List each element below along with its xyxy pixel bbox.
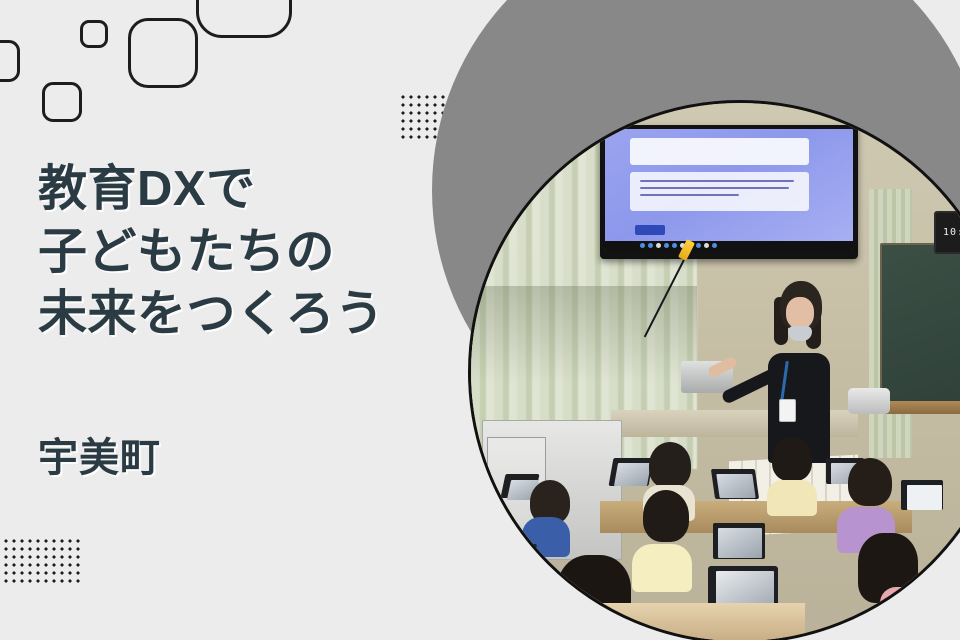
subtitle-municipality: 宇美町 bbox=[38, 425, 161, 483]
student bbox=[649, 442, 691, 488]
chalk-rail bbox=[880, 401, 960, 414]
wall-display-monitor bbox=[600, 125, 858, 260]
student-laptop-screen bbox=[718, 528, 762, 558]
screen-taskbar bbox=[605, 241, 853, 250]
rounded-square-icon-d bbox=[128, 18, 198, 88]
student bbox=[848, 458, 892, 506]
taskbar-icon bbox=[672, 243, 677, 248]
screen-text-line bbox=[640, 187, 789, 189]
rounded-square-icon-e bbox=[196, 0, 292, 38]
screen-card-body bbox=[630, 172, 809, 211]
banner-root: 10:00 bbox=[0, 0, 960, 640]
student-laptop-screen bbox=[614, 463, 651, 486]
screen-submit-button bbox=[635, 225, 665, 236]
student-shirt bbox=[767, 480, 817, 516]
rounded-square-icon-b bbox=[42, 82, 82, 122]
student-shirt-pink bbox=[880, 587, 938, 631]
taskbar-icon bbox=[656, 243, 661, 248]
page-title: 教育DXで 子どもたちの 未来をつくろう bbox=[38, 158, 385, 346]
student-desk bbox=[568, 603, 805, 640]
wall-clock: 10:00 bbox=[934, 211, 960, 254]
rounded-square-icon-a bbox=[0, 40, 20, 82]
rounded-square-icon-c bbox=[80, 20, 108, 48]
teacher-id-card bbox=[779, 399, 796, 422]
taskbar-icon bbox=[640, 243, 645, 248]
dot-grid-bottom bbox=[0, 537, 82, 587]
taskbar-icon bbox=[704, 243, 709, 248]
student bbox=[772, 437, 812, 481]
student-shirt bbox=[632, 544, 692, 592]
student-laptop-screen bbox=[907, 485, 942, 510]
student-laptop-screen bbox=[717, 474, 756, 498]
taskbar-icon bbox=[712, 243, 717, 248]
teacher-face bbox=[786, 297, 814, 329]
teacher-face-mask bbox=[788, 326, 812, 341]
screen-text-line bbox=[640, 194, 739, 196]
taskbar-icon bbox=[664, 243, 669, 248]
blackboard bbox=[880, 243, 960, 404]
taskbar-icon bbox=[648, 243, 653, 248]
student bbox=[643, 490, 689, 542]
student-laptop-screen bbox=[493, 550, 533, 580]
classroom-photo-inner: 10:00 bbox=[471, 103, 960, 640]
display-screen bbox=[605, 129, 853, 251]
taskbar-icon bbox=[696, 243, 701, 248]
classroom-photo: 10:00 bbox=[468, 100, 960, 640]
speaker bbox=[848, 388, 890, 414]
screen-card-top bbox=[630, 138, 809, 165]
screen-text-line bbox=[640, 180, 794, 182]
